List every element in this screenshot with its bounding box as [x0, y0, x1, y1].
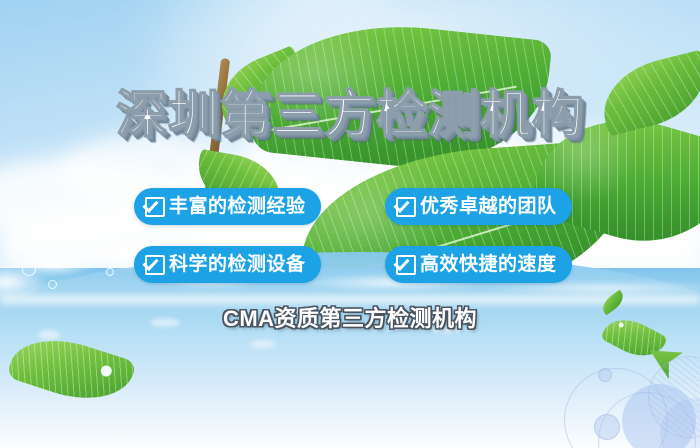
page-subtitle: CMA资质第三方检测机构: [223, 301, 477, 333]
promotional-banner: 深圳第三方检测机构 丰富的检测经验 优秀卓越的团队 科学的检测设备 高效快捷的速…: [0, 0, 700, 448]
bubble-icon: [106, 268, 114, 276]
feature-badge-label: 科学的检测设备: [169, 255, 306, 274]
banner-title-container: 深圳第三方检测机构: [0, 86, 700, 144]
decorative-circle: [622, 384, 696, 448]
feature-badge-label: 高效快捷的速度: [420, 255, 557, 274]
feature-badge-equipment[interactable]: 科学的检测设备: [134, 246, 321, 283]
feature-badge-label: 优秀卓越的团队: [420, 197, 557, 216]
bubble-icon: [70, 252, 81, 263]
page-title: 深圳第三方检测机构: [116, 86, 584, 144]
checkbox-checked-icon: [396, 197, 416, 217]
feature-badge-team[interactable]: 优秀卓越的团队: [385, 188, 572, 225]
checkbox-checked-icon: [145, 255, 165, 275]
feature-badge-speed[interactable]: 高效快捷的速度: [385, 246, 572, 283]
feature-badge-experience[interactable]: 丰富的检测经验: [134, 188, 321, 225]
bubble-icon: [22, 262, 36, 276]
checkbox-checked-icon: [396, 255, 416, 275]
bubble-icon: [48, 280, 57, 289]
underwater-bubble: [250, 340, 276, 348]
decorative-circle-small: [598, 368, 612, 382]
feature-badge-label: 丰富的检测经验: [169, 197, 306, 216]
banner-subtitle-container: CMA资质第三方检测机构: [0, 301, 700, 333]
checkbox-checked-icon: [145, 197, 165, 217]
decorative-circle-small: [594, 414, 620, 440]
